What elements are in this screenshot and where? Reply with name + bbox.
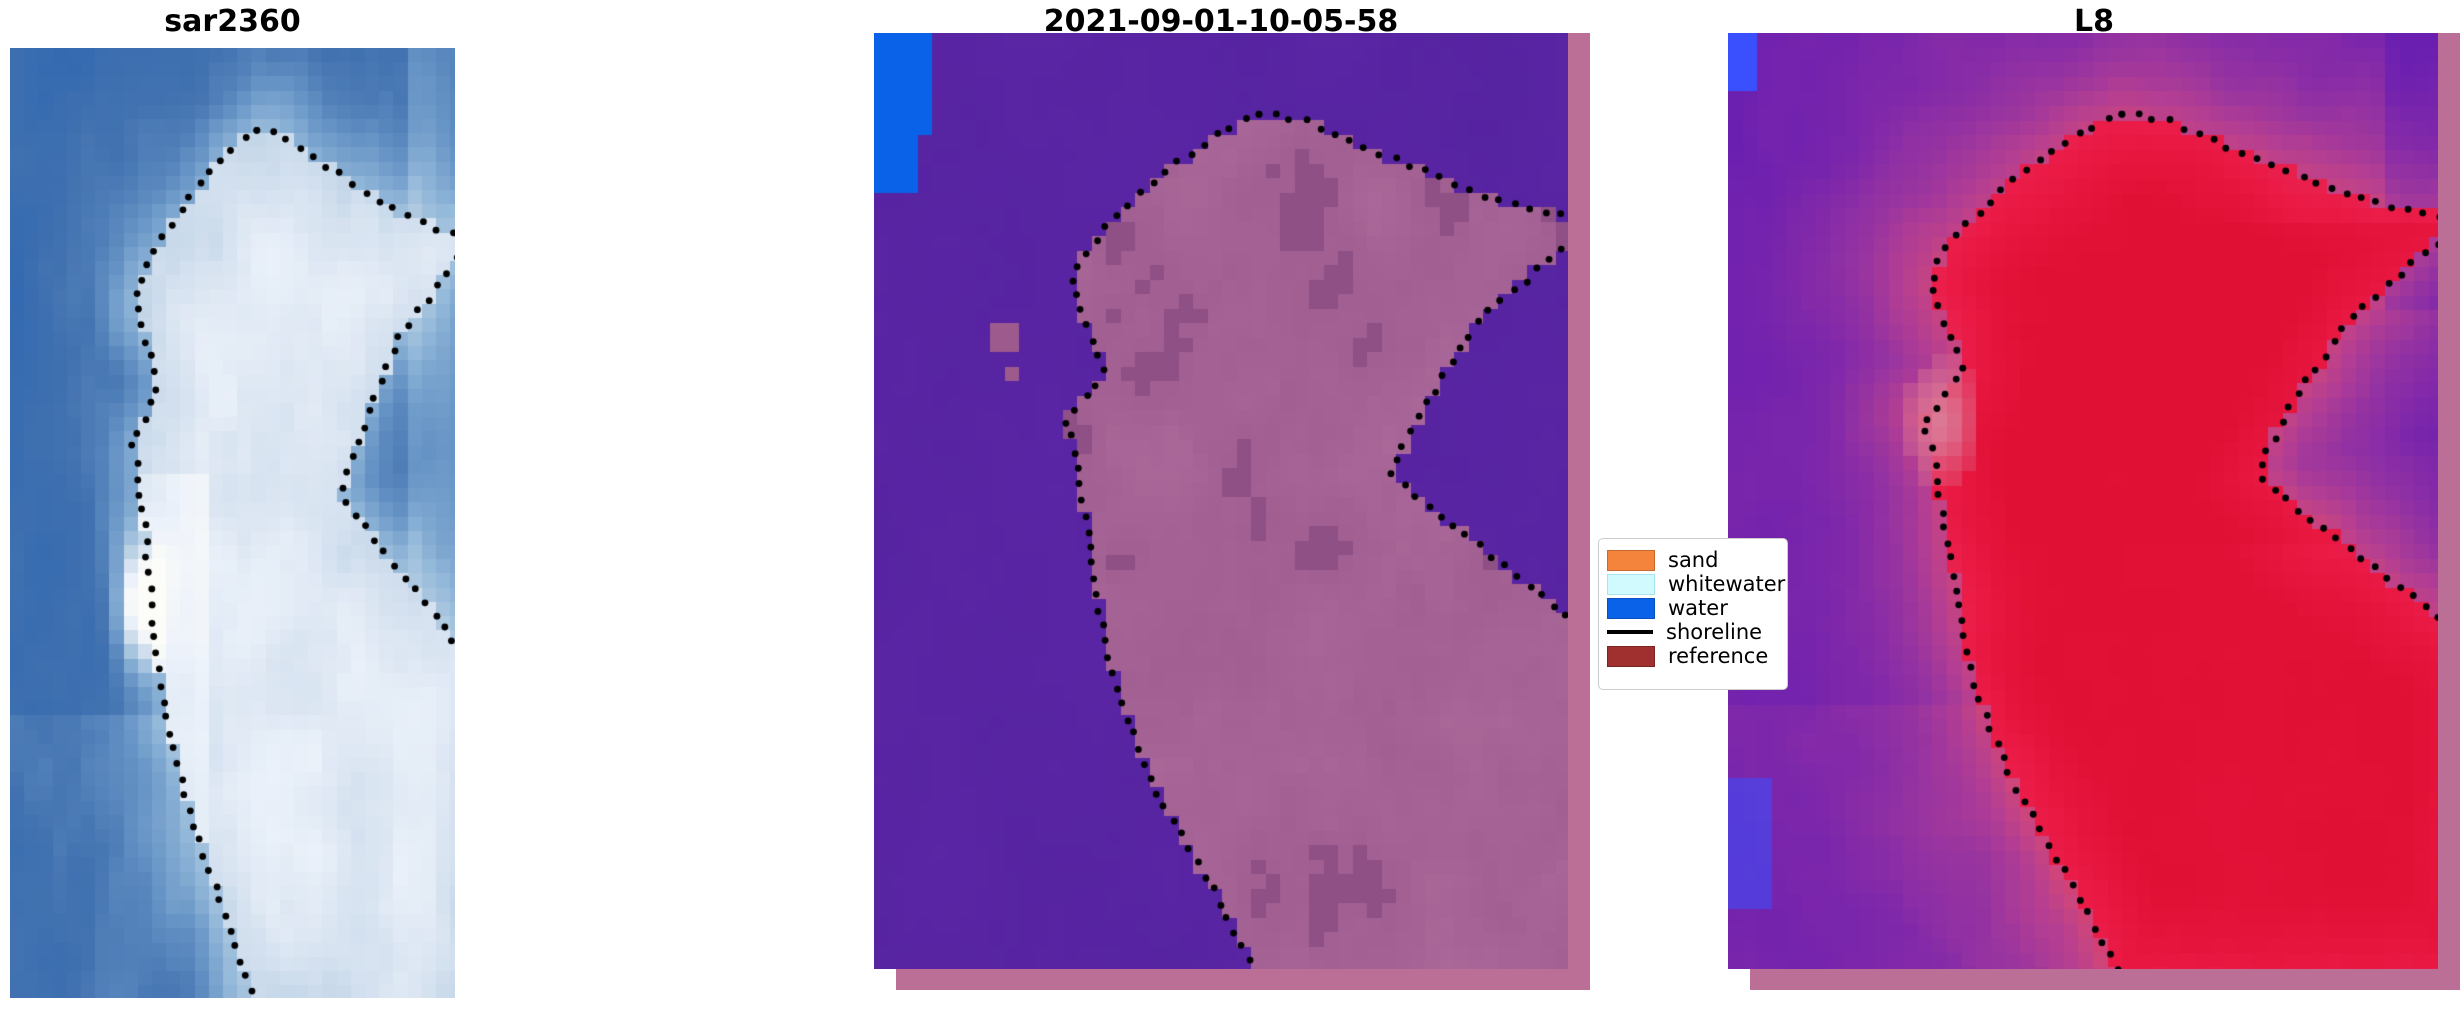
sand-swatch — [1607, 550, 1655, 571]
panel-l8-image[interactable] — [1728, 33, 2438, 969]
water-swatch — [1607, 598, 1655, 619]
l8-reference-frame — [2438, 33, 2460, 990]
legend-label-reference: reference — [1668, 644, 1768, 668]
legend-panel-gap — [1590, 33, 1598, 990]
legend-label-water: water — [1668, 596, 1728, 620]
legend-item-shoreline[interactable]: shoreline — [1607, 620, 1777, 644]
legend-label-shoreline: shoreline — [1666, 620, 1762, 644]
legend-item-whitewater[interactable]: whitewater — [1607, 572, 1777, 596]
classified-reference-frame-bottom — [896, 968, 1590, 990]
reference-swatch — [1607, 646, 1655, 667]
l8-reference-frame-bottom — [1750, 968, 2460, 990]
legend-label-sand: sand — [1668, 548, 1718, 572]
legend-item-water[interactable]: water — [1607, 596, 1777, 620]
l8-shoreline-overlay — [1728, 33, 2438, 969]
shoreline-line-swatch — [1607, 630, 1653, 634]
sar-shoreline-overlay — [10, 48, 455, 998]
whitewater-swatch — [1607, 574, 1655, 595]
classified-shoreline-overlay — [874, 33, 1568, 969]
legend-item-reference[interactable]: reference — [1607, 644, 1777, 668]
panel-sar-image[interactable] — [10, 48, 455, 998]
map-legend[interactable]: sand whitewater water shoreline referenc… — [1598, 538, 1788, 690]
legend-label-whitewater: whitewater — [1668, 572, 1785, 596]
classified-reference-frame — [1568, 33, 1590, 990]
panel-title-sar: sar2360 — [10, 4, 455, 39]
panel-classified-image[interactable] — [874, 33, 1568, 969]
legend-item-sand[interactable]: sand — [1607, 548, 1777, 572]
